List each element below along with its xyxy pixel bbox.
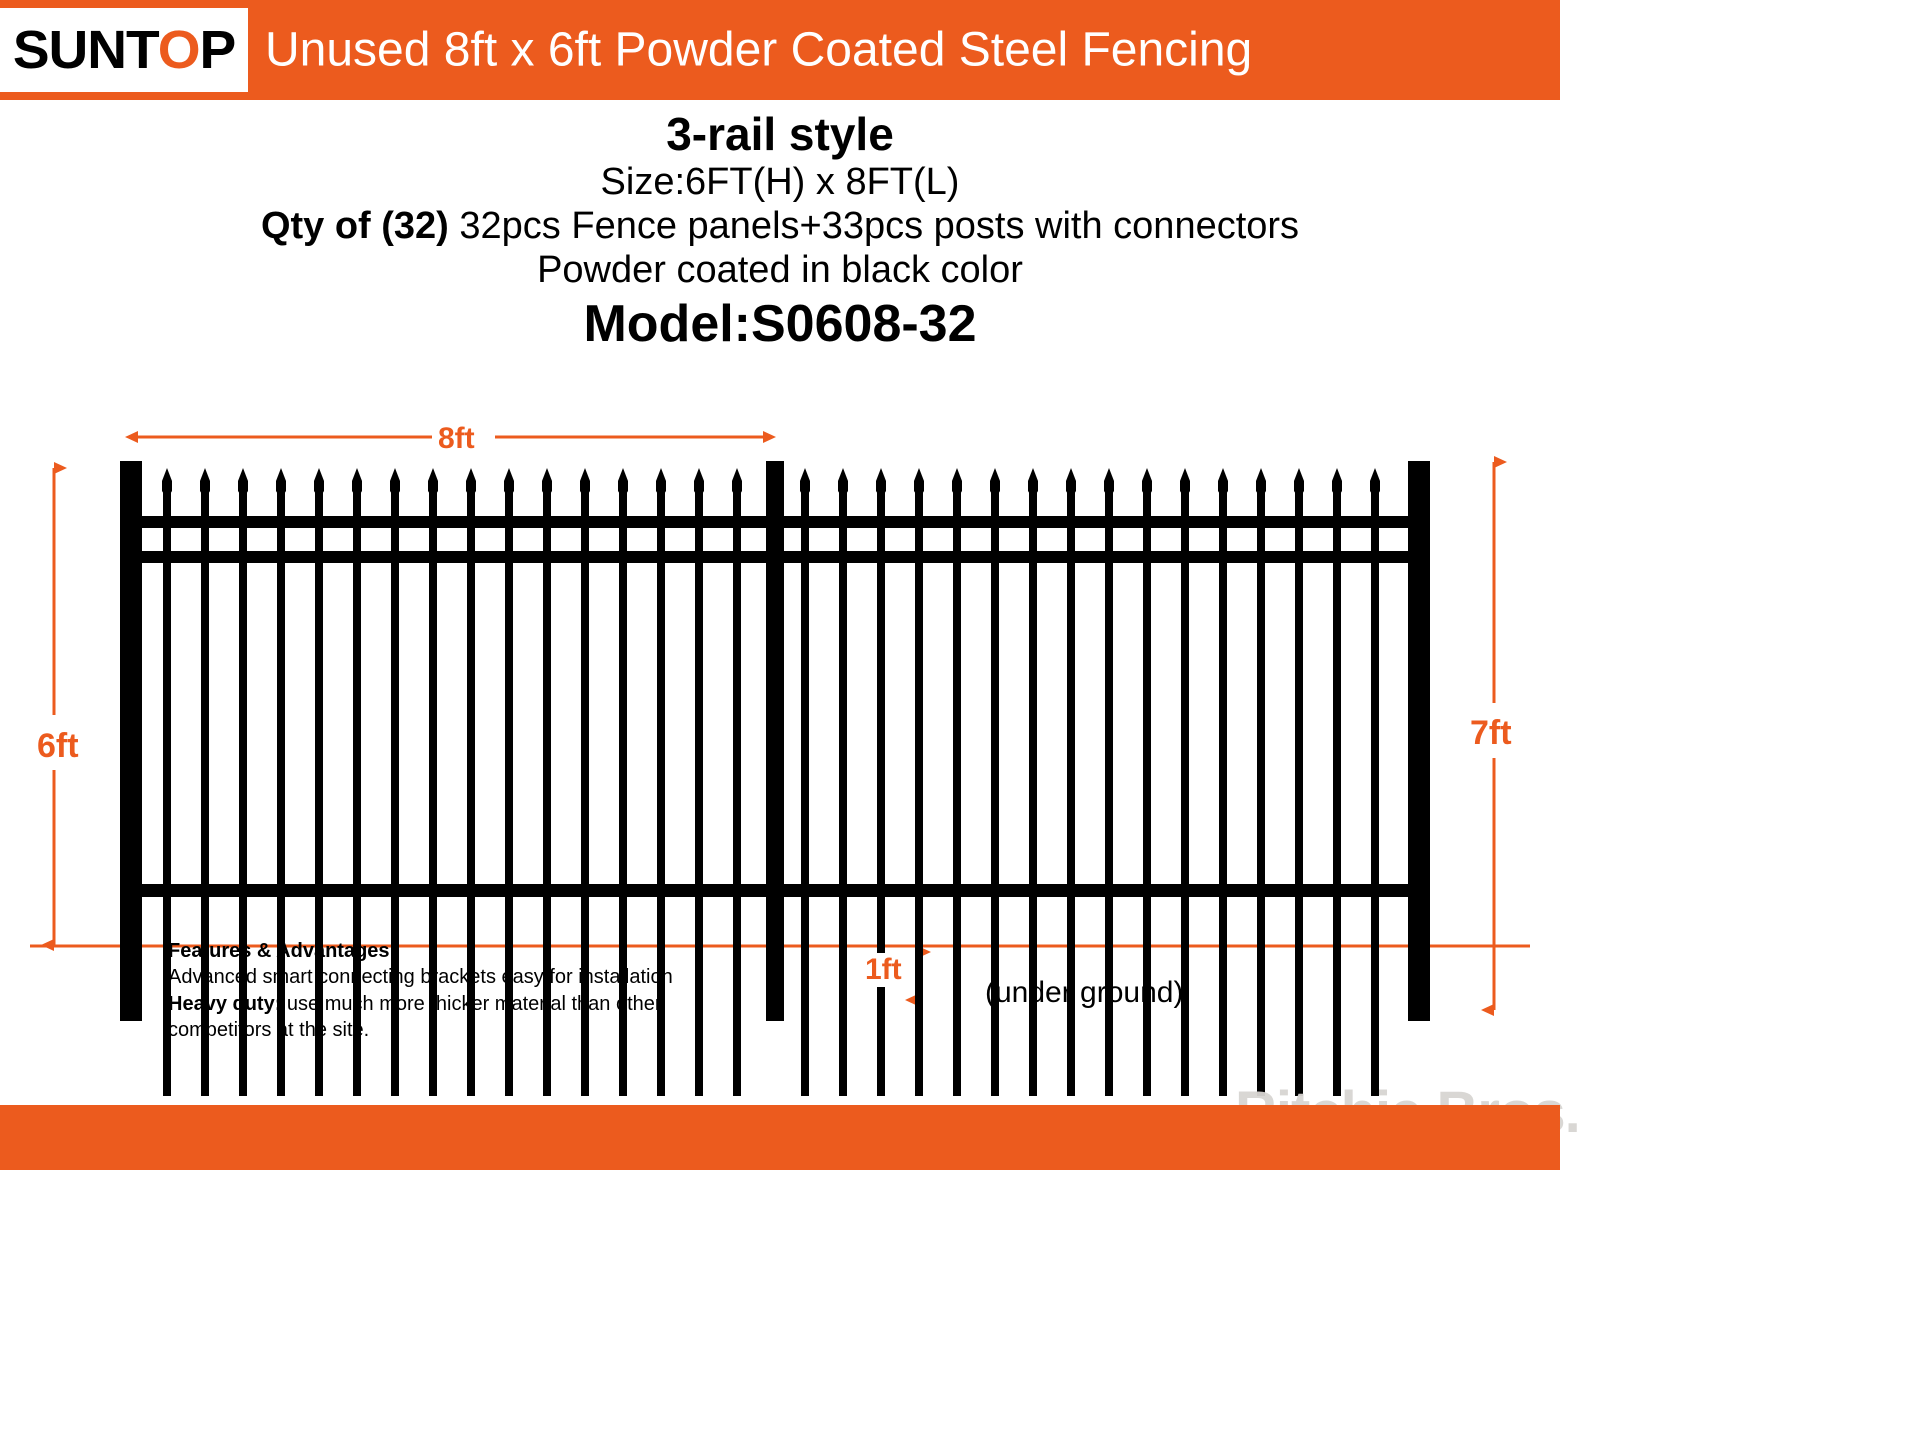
- suntop-logo: SUNTOP: [0, 8, 248, 92]
- rail-second-right: [780, 551, 1416, 563]
- logo-part-3: P: [199, 20, 235, 80]
- spec-quantity-bold: Qty of (32): [261, 205, 449, 247]
- spec-block: 3-rail style Size:6FT(H) x 8FT(L) Qty of…: [0, 110, 1560, 353]
- spec-size: Size:6FT(H) x 8FT(L): [0, 162, 1560, 204]
- features-line-1: Advanced smart connecting brackets easy …: [168, 964, 738, 990]
- dimension-label-burial: 1ft: [862, 953, 905, 987]
- rail-top-left: [132, 516, 772, 528]
- footer-bar: [0, 1105, 1560, 1170]
- rail-second-left: [132, 551, 772, 563]
- spec-style: 3-rail style: [0, 110, 1560, 158]
- dimension-label-height: 6ft: [33, 725, 83, 768]
- logo-text: SUNTOP: [13, 23, 235, 77]
- dimension-label-width: 8ft: [432, 422, 481, 456]
- logo-part-o: O: [158, 20, 200, 80]
- features-line-3: competitors at the site.: [168, 1017, 738, 1043]
- spec-model: Model:S0608-32: [0, 296, 1560, 353]
- features-line-2-bold: Heavy duty:: [168, 993, 281, 1015]
- logo-part-1: SUNT: [13, 20, 158, 80]
- features-heading: Features & Advantages:: [168, 938, 738, 964]
- underground-label: (under ground): [985, 976, 1183, 1010]
- rail-bottom-right: [780, 884, 1416, 897]
- spec-quantity-rest: 32pcs Fence panels+33pcs posts with conn…: [449, 205, 1299, 247]
- fence-post-right: [1408, 461, 1430, 1021]
- features-block: Features & Advantages: Advanced smart co…: [168, 938, 738, 1044]
- spec-quantity: Qty of (32) 32pcs Fence panels+33pcs pos…: [0, 206, 1560, 248]
- fence-post-left: [120, 461, 142, 1021]
- header-bar: SUNTOP Unused 8ft x 6ft Powder Coated St…: [0, 0, 1560, 100]
- page-title: Unused 8ft x 6ft Powder Coated Steel Fen…: [265, 23, 1252, 78]
- features-line-2: Heavy duty: use much more thicker materi…: [168, 991, 738, 1017]
- rail-top-right: [780, 516, 1416, 528]
- features-line-2-rest: use much more thicker material than othe…: [281, 993, 661, 1015]
- dimension-label-total-height: 7ft: [1466, 712, 1516, 755]
- spec-coating: Powder coated in black color: [0, 250, 1560, 292]
- fence-post-center: [766, 461, 784, 1021]
- rail-bottom-left: [132, 884, 772, 897]
